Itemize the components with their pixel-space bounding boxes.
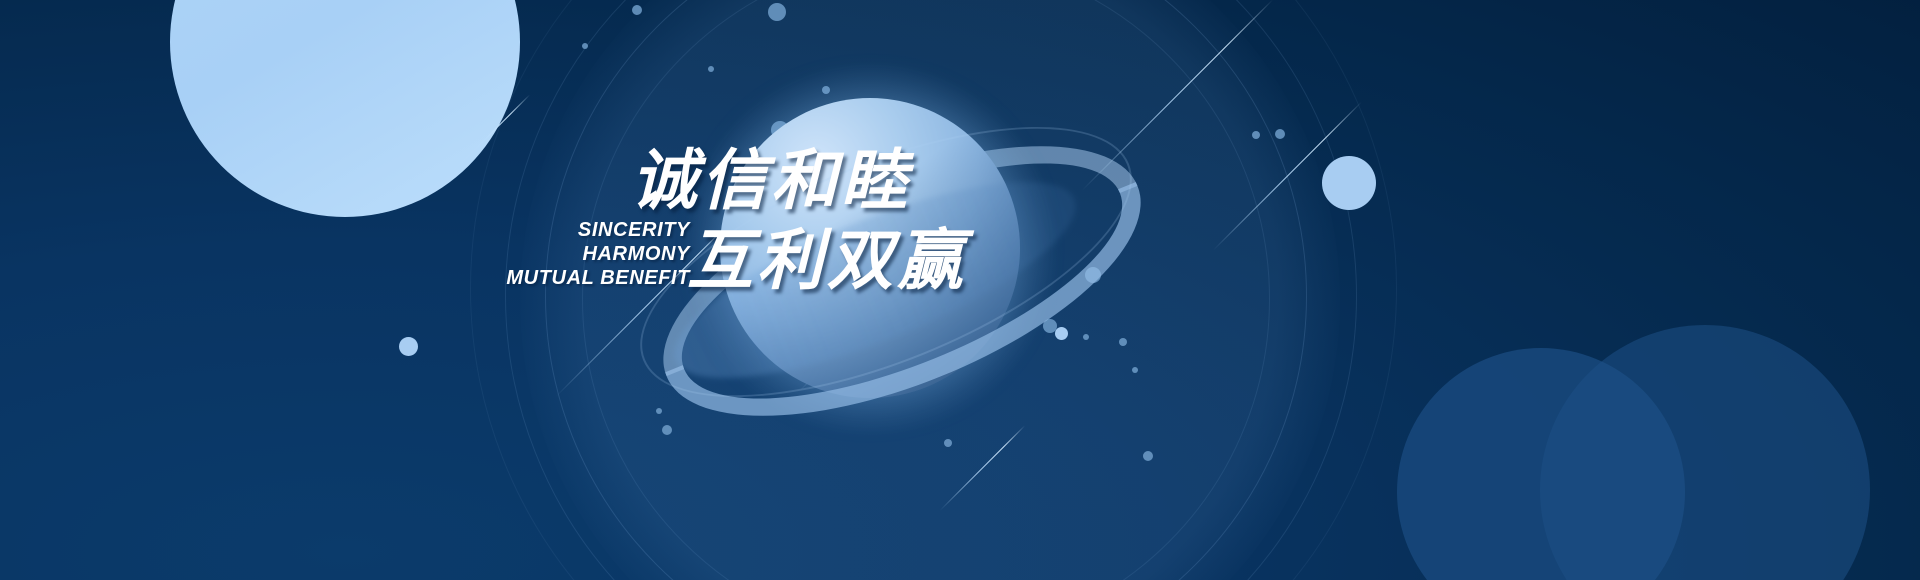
chinese-slogan-block: 诚信和睦 互利双赢 <box>631 140 967 300</box>
chinese-slogan-line-2: 互利双赢 <box>687 220 967 300</box>
decor-circle-top-left <box>170 0 520 217</box>
chinese-slogan-line-1: 诚信和睦 <box>631 140 967 220</box>
glow-dot-mid <box>1055 327 1068 340</box>
headline-block: SINCERITY HARMONY MUTUAL BENEFIT 诚信和睦 互利… <box>535 140 1095 320</box>
glow-dot-right <box>1322 156 1376 210</box>
hero-banner: SINCERITY HARMONY MUTUAL BENEFIT 诚信和睦 互利… <box>0 0 1920 580</box>
glow-dot-left <box>399 337 418 356</box>
